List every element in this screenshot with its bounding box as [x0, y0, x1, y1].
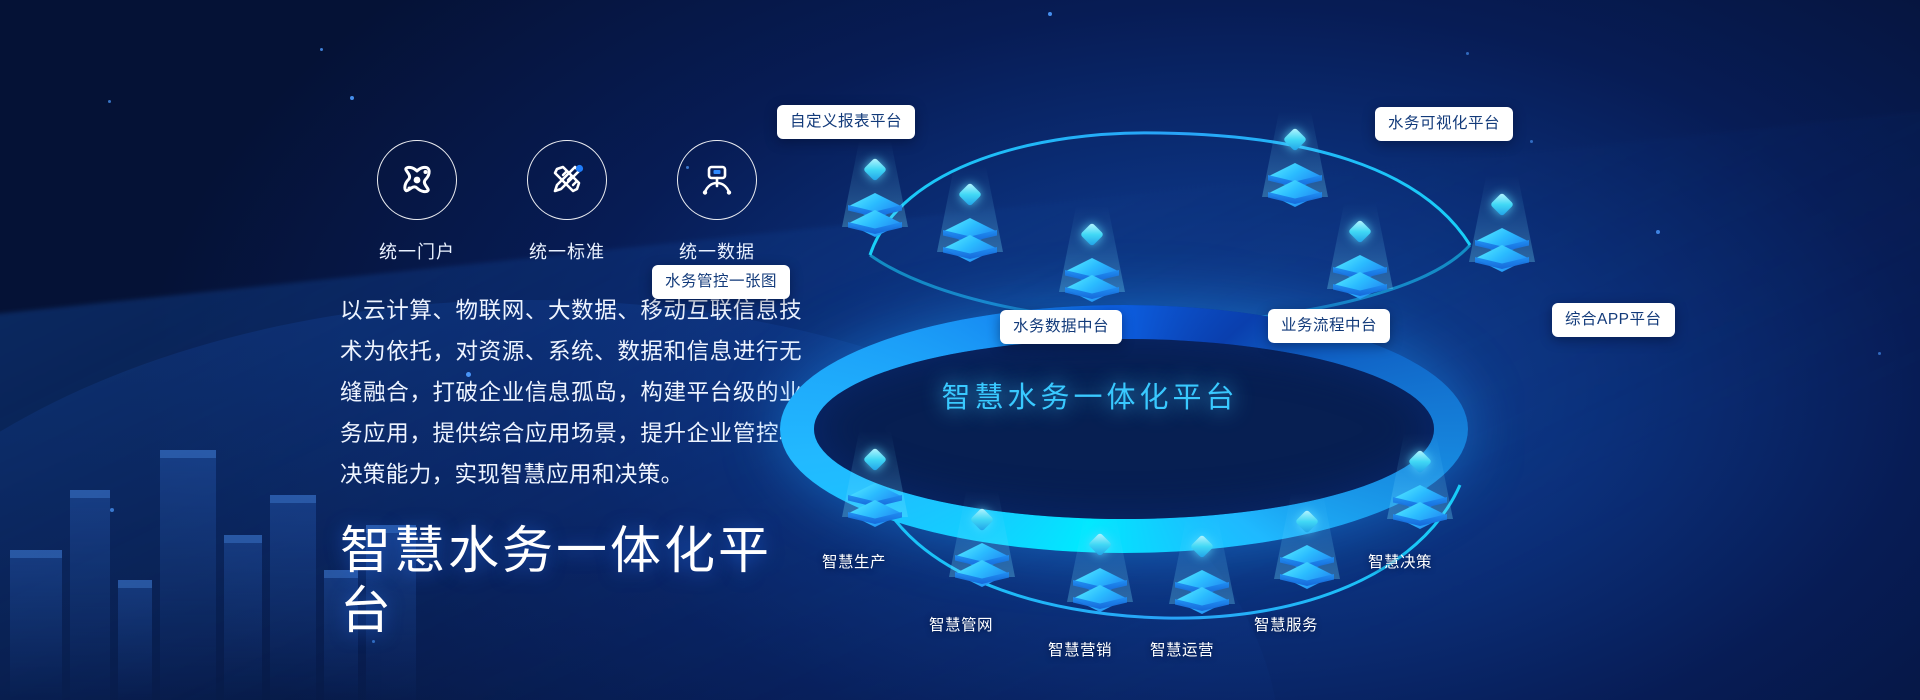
platform-diagram: 智慧水务一体化平台 自定义报表平台 水务可视化平台 — [830, 55, 1920, 675]
label-smart-production: 智慧生产 — [822, 550, 886, 572]
server-stack-icon — [1272, 545, 1342, 597]
ruler-pencil-icon — [527, 140, 607, 220]
description-paragraph: 以云计算、物联网、大数据、移动互联信息技术为依托，对资源、系统、数据和信息进行无… — [340, 290, 802, 495]
gem-icon — [1080, 222, 1104, 246]
star-dot — [110, 508, 114, 512]
gem-icon — [863, 157, 887, 181]
server-stack-icon — [1385, 485, 1455, 537]
server-stack-icon — [1057, 258, 1127, 310]
data-node-icon — [677, 140, 757, 220]
label-smart-service: 智慧服务 — [1254, 613, 1318, 635]
feature-label: 统一标准 — [529, 238, 605, 264]
feature-label: 统一门户 — [379, 238, 455, 264]
chip-water-data-platform[interactable]: 水务数据中台 — [1000, 310, 1122, 344]
feature-item-standard[interactable]: 统一标准 — [492, 140, 642, 264]
server-stack-icon — [1167, 570, 1237, 622]
feature-item-data[interactable]: 统一数据 — [642, 140, 792, 264]
star-dot — [1048, 12, 1052, 16]
chip-custom-report[interactable]: 自定义报表平台 — [777, 105, 915, 139]
server-stack-icon — [935, 218, 1005, 270]
gem-icon — [1283, 127, 1307, 151]
server-stack-icon — [840, 483, 910, 535]
left-content-panel: 统一门户 统一标准 — [340, 140, 820, 641]
atom-icon — [377, 140, 457, 220]
page-title: 智慧水务一体化平台 — [340, 521, 820, 641]
server-stack-icon — [1467, 228, 1537, 280]
banner-stage: 统一门户 统一标准 — [0, 0, 1920, 700]
server-stack-icon — [1065, 568, 1135, 620]
gem-icon — [1348, 219, 1372, 243]
label-smart-operations: 智慧运营 — [1150, 638, 1214, 660]
chip-integrated-app[interactable]: 综合APP平台 — [1552, 303, 1675, 337]
chip-water-control-map[interactable]: 水务管控一张图 — [652, 265, 790, 299]
star-dot — [108, 100, 111, 103]
server-stack-icon — [947, 543, 1017, 595]
feature-label: 统一数据 — [679, 238, 755, 264]
gem-icon — [1490, 192, 1514, 216]
server-stack-icon — [1260, 163, 1330, 215]
label-smart-pipe-network: 智慧管网 — [929, 613, 993, 635]
label-smart-decision: 智慧决策 — [1368, 550, 1432, 572]
feature-icon-row: 统一门户 统一标准 — [342, 140, 792, 264]
chip-water-visualization[interactable]: 水务可视化平台 — [1375, 107, 1513, 141]
server-stack-icon — [840, 193, 910, 245]
label-smart-marketing: 智慧营销 — [1048, 638, 1112, 660]
gem-icon — [958, 182, 982, 206]
server-stack-icon — [1325, 255, 1395, 307]
star-dot — [320, 48, 323, 51]
feature-item-portal[interactable]: 统一门户 — [342, 140, 492, 264]
star-dot — [350, 96, 354, 100]
chip-business-process-platform[interactable]: 业务流程中台 — [1268, 309, 1390, 343]
